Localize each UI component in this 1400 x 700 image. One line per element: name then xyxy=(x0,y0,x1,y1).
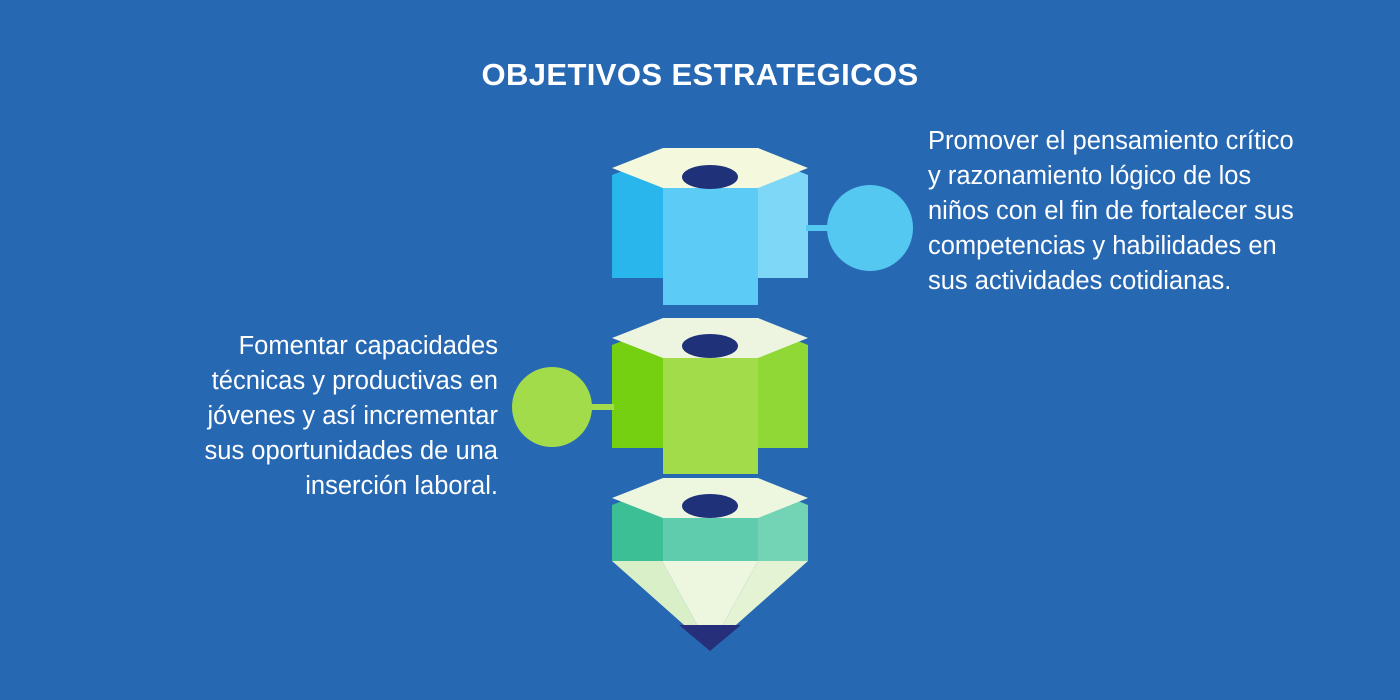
segment-green xyxy=(612,318,808,474)
callout-connector-right xyxy=(806,185,913,271)
green-callout-marker[interactable] xyxy=(512,367,592,447)
graphite-tip xyxy=(679,625,741,651)
segment-blue xyxy=(612,148,808,305)
callout-connector-left xyxy=(512,367,614,447)
callout-text-right: Promover el pensamiento crítico y razona… xyxy=(928,124,1300,299)
callout-text-left: Fomentar capacidades técnicas y producti… xyxy=(178,329,498,504)
slide-canvas: OBJETIVOS ESTRATEGICOS xyxy=(0,0,1400,700)
blue-callout-marker[interactable] xyxy=(827,185,913,271)
green-graphite-hole xyxy=(682,334,738,358)
teal-graphite-hole xyxy=(682,494,738,518)
segment-teal xyxy=(612,478,808,651)
blue-graphite-hole xyxy=(682,165,738,189)
